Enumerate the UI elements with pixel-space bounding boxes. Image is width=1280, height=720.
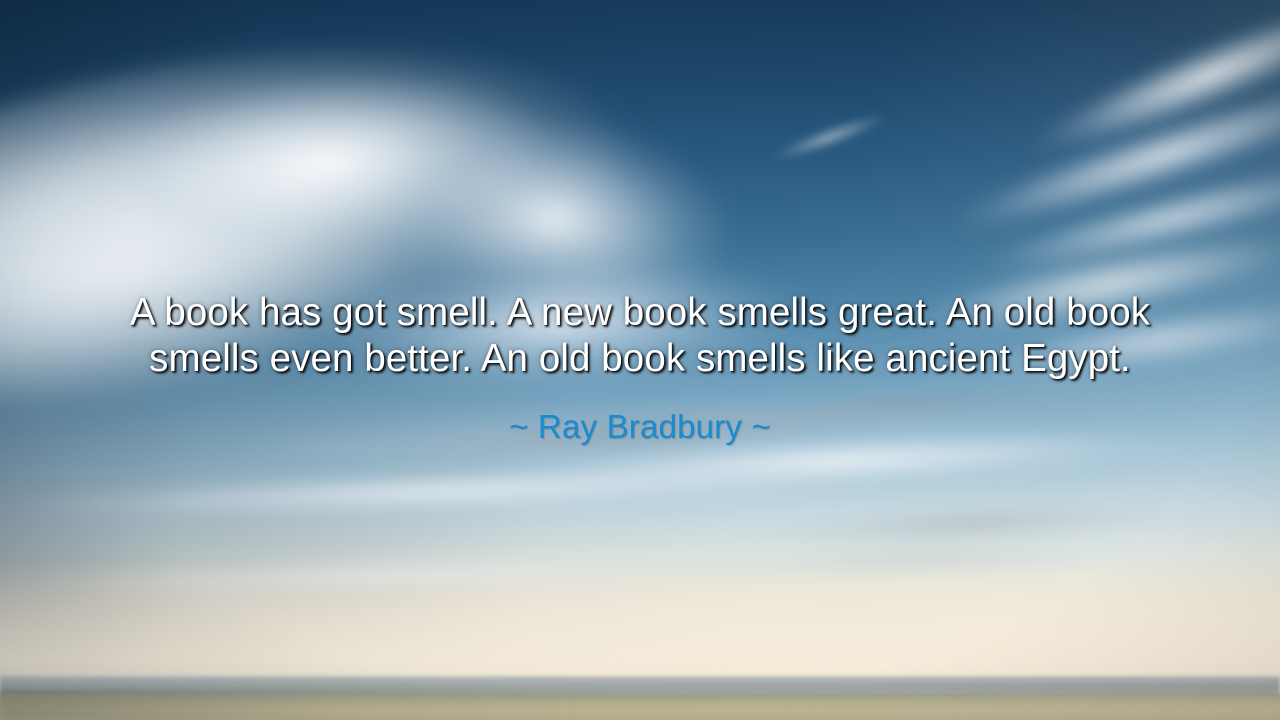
quote-author: ~ Ray Bradbury ~ <box>60 408 1220 446</box>
quote-text: A book has got smell. A new book smells … <box>98 290 1183 382</box>
quote-block: A book has got smell. A new book smells … <box>0 290 1280 446</box>
quote-image: A book has got smell. A new book smells … <box>0 0 1280 720</box>
